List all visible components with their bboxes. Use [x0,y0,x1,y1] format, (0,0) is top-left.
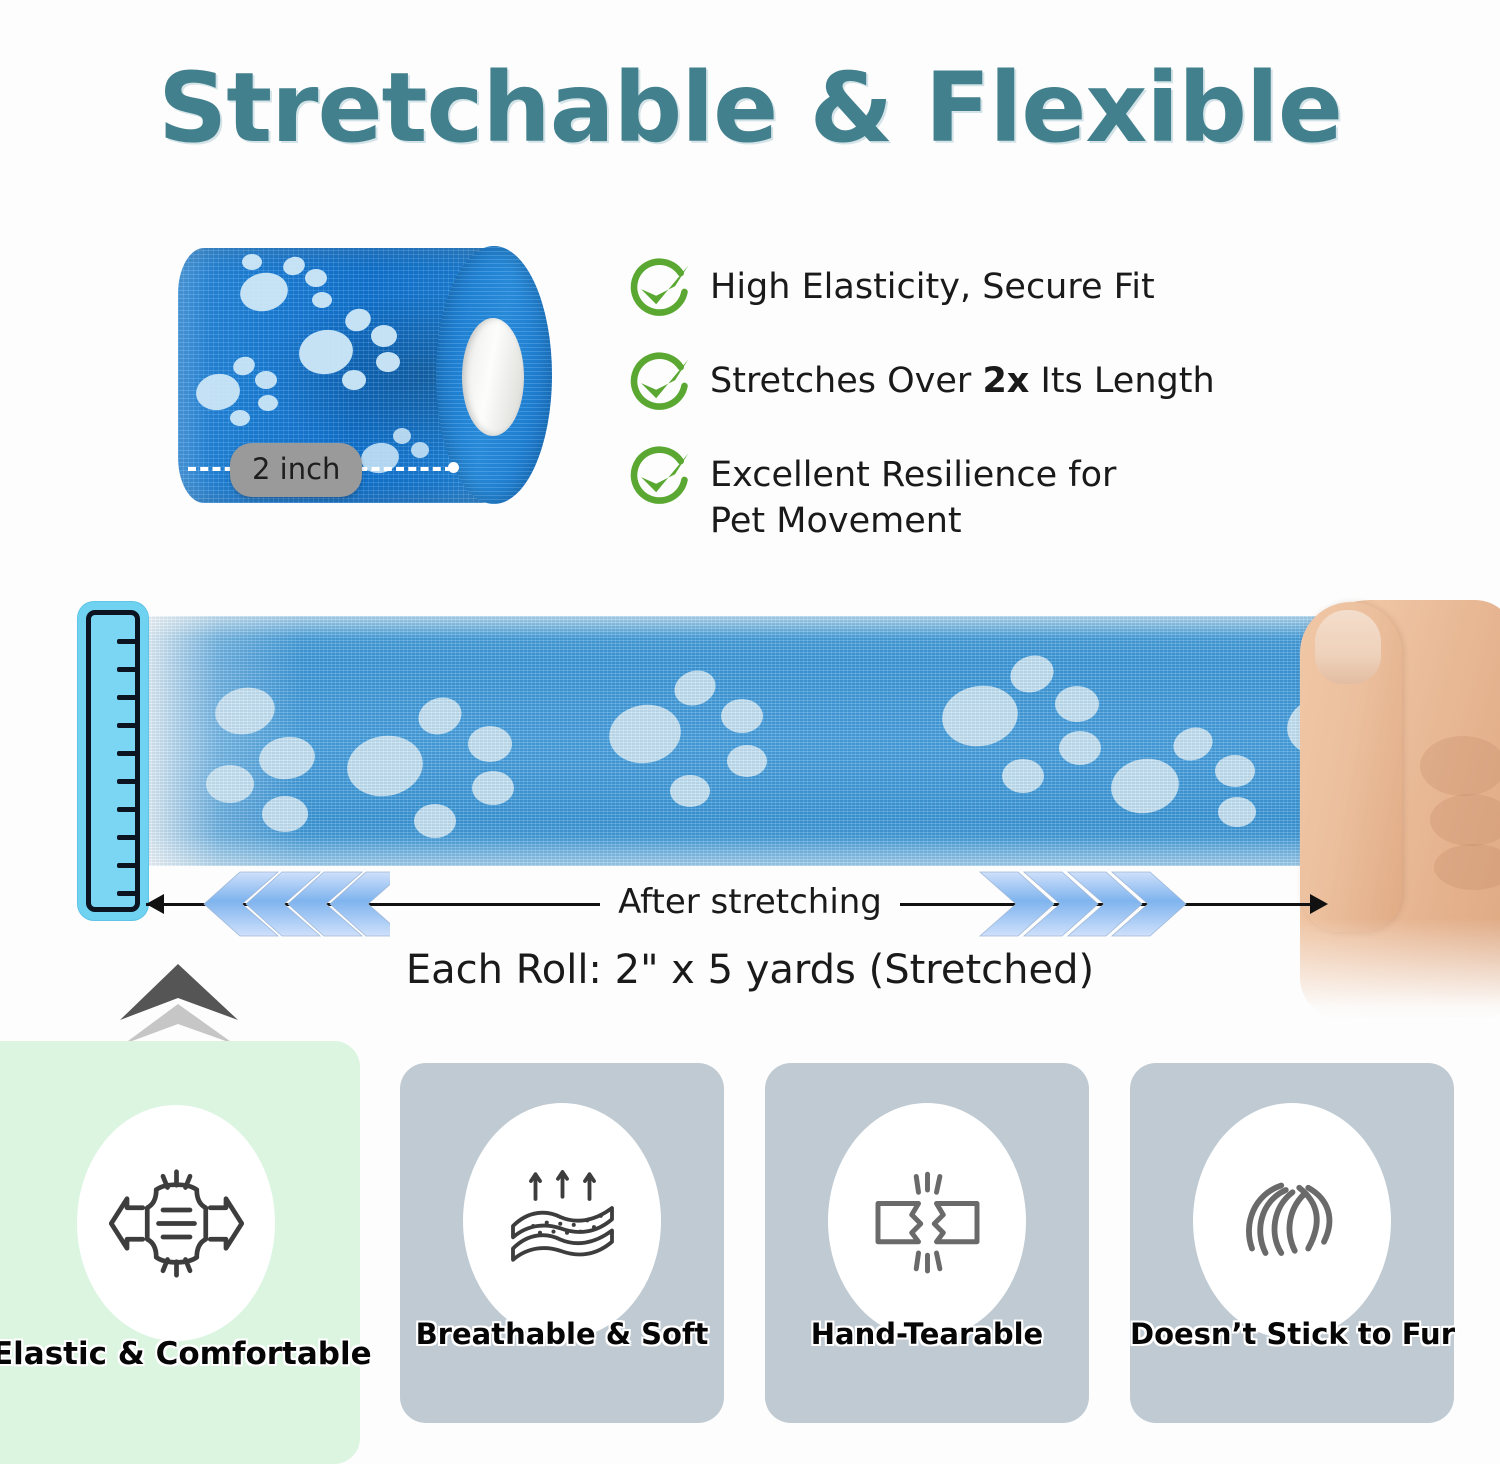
ruler-tick [117,835,140,840]
up-chevron-marker-icon [116,946,246,1046]
benefit-item: Stretches Over 2x Its Length [626,352,1246,418]
check-circle-icon [626,352,692,418]
ruler-icon [78,602,148,920]
benefit-label: Stretches Over 2x Its Length [710,352,1215,404]
check-circle-icon [626,258,692,324]
feature-card-hand-tearable[interactable]: Hand-Tearable [765,1063,1089,1423]
knuckle [1420,736,1500,796]
product-roll-image: 2 inch [168,240,558,520]
feature-card-label: Doesn’t Stick to Fur [1130,1317,1454,1351]
benefit-label: High Elasticity, Secure Fit [710,258,1155,310]
chevrons-right-icon [970,868,1190,940]
band-paw-pattern [135,616,1335,866]
card-icon-background [77,1105,275,1341]
ruler-tick [117,723,140,728]
fur-swirl-icon [1225,1154,1360,1289]
feature-card-label: Elastic & Comfortable [0,1336,360,1372]
ruler-tick [117,779,140,784]
stretch-arrows-icon [109,1156,244,1291]
ruler-tick [117,891,139,896]
thumbnail [1315,610,1381,684]
chevrons-left-icon [200,868,390,940]
card-icon-background [828,1103,1026,1339]
infographic-page: Stretchable & Flexible [0,0,1500,1464]
ruler-tick [117,863,139,868]
ruler-inner [86,610,140,912]
measurement-endpoint-dot [448,462,459,473]
card-icon-background [463,1103,661,1339]
card-icon-background [1193,1103,1391,1339]
ruler-tick [117,639,139,644]
feature-card-elastic-comfortable[interactable]: Elastic & Comfortable [0,1041,360,1464]
ruler-tick [117,667,140,672]
benefit-item: High Elasticity, Secure Fit [626,258,1246,324]
roll-core [462,318,524,436]
torn-tape-icon [860,1154,995,1289]
stretched-bandage-band [135,616,1335,866]
breathable-fabric-icon [495,1154,630,1289]
benefit-label: Excellent Resilience for Pet Movement [710,446,1180,544]
feature-card-doesnt-stick-to-fur[interactable]: Doesn’t Stick to Fur [1130,1063,1454,1423]
feature-cards: Elastic & Comfortable [0,1035,1500,1464]
arrow-head-right-icon [1310,894,1328,914]
size-badge: 2 inch [230,443,362,497]
feature-card-label: Hand-Tearable [765,1317,1089,1351]
check-circle-icon [626,446,692,512]
arrow-head-left-icon [146,894,164,914]
feature-card-label: Breathable & Soft [400,1317,724,1351]
benefit-emphasis: 2x [982,361,1029,401]
feature-card-breathable-soft[interactable]: Breathable & Soft [400,1063,724,1423]
ruler-tick [117,751,139,756]
ruler-tick [117,695,139,700]
benefit-item: Excellent Resilience for Pet Movement [626,446,1246,544]
ruler-tick [117,807,139,812]
page-title: Stretchable & Flexible [0,52,1500,164]
benefits-list: High Elasticity, Secure Fit Stretches Ov… [626,258,1246,572]
